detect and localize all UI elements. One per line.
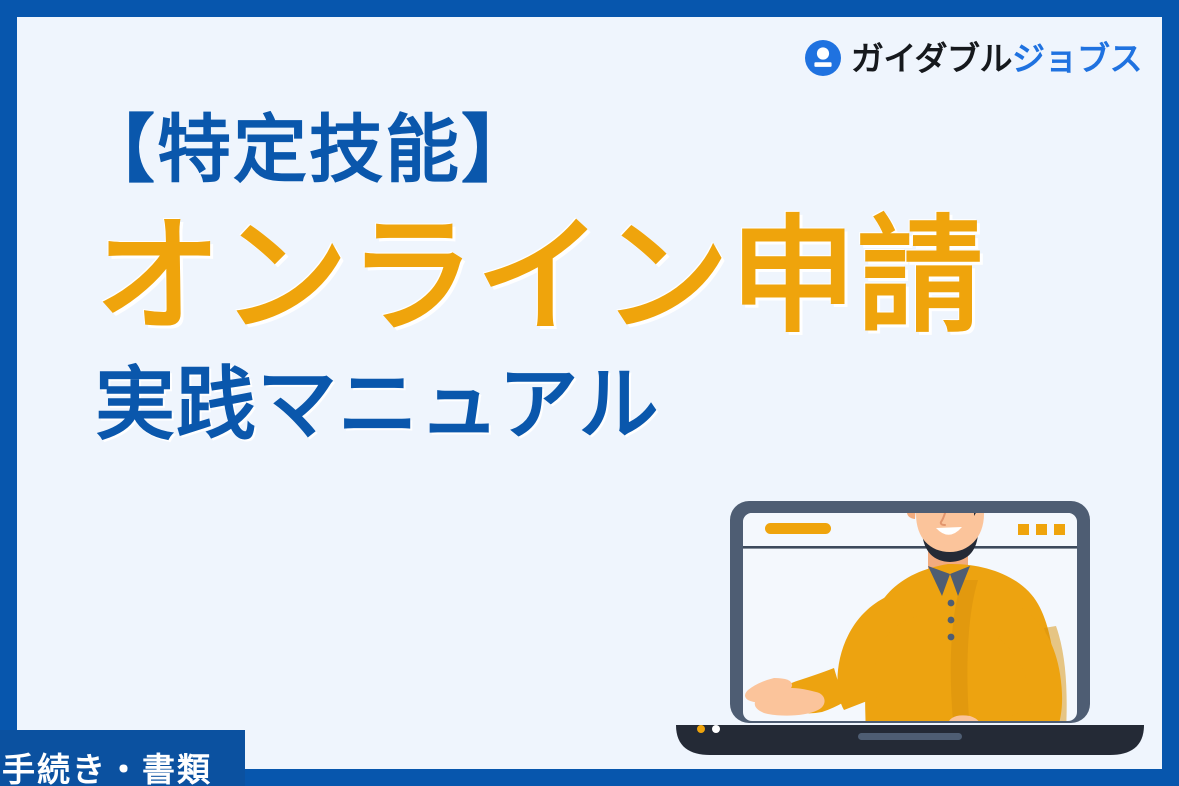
presenter-hair-sideburn [902,478,910,498]
category-badge-label: 手続き・書類 [2,743,212,786]
headline-kicker: 【特定技能】 [81,113,1021,187]
laptop-illustration-svg [670,430,1150,769]
laptop-presenter-illustration [670,430,1150,769]
address-bar-pill [765,523,831,534]
browser-chrome-divider [743,546,1077,549]
presenter-button-3 [948,634,955,641]
laptop-indicator-orange [697,725,705,733]
headline-block: 【特定技能】 オンライン申請 実践マニュアル [81,113,1021,445]
brand-logo-text: ガイダブルジョブス [851,42,1142,75]
window-dot-icon-3 [1054,524,1065,535]
poster-inner-panel: ガイダブルジョブス 【特定技能】 オンライン申請 実践マニュアル [17,17,1162,769]
presenter-button-1 [948,600,955,607]
presenter-button-2 [948,617,955,624]
brand-logo-text-secondary: ジョブス [1012,39,1142,78]
presenter-face [916,446,984,552]
presenter-eyebrow-left [926,495,940,498]
laptop-touchpad [858,733,962,740]
presenter-eyebrow-right [958,494,971,497]
headline-main: オンライン申請 [95,209,1021,345]
poster-canvas: ガイダブルジョブス 【特定技能】 オンライン申請 実践マニュアル [0,0,1179,786]
brand-logo-text-primary: ガイダブル [851,39,1012,78]
brand-logo[interactable]: ガイダブルジョブス [804,39,1142,77]
laptop-indicator-white [712,725,720,733]
category-badge[interactable]: 手続き・書類 [0,730,245,786]
user-circle-icon [804,39,842,77]
window-dot-icon-1 [1018,524,1029,535]
window-dot-icon-2 [1036,524,1047,535]
